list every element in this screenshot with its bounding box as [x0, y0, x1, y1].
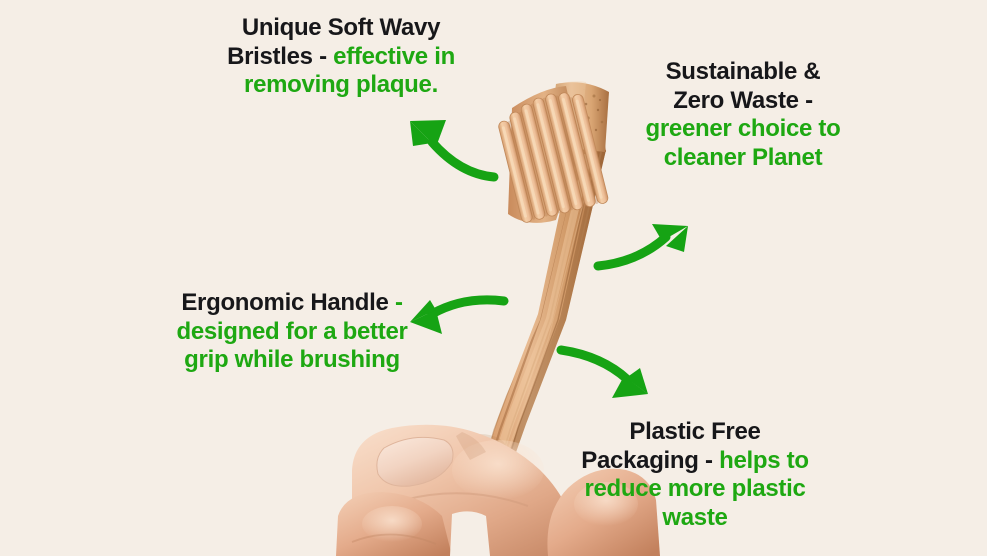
- callout-plastic-free-packaging: Plastic Free Packaging - helps to reduce…: [578, 418, 812, 532]
- callout-ergonomic-title: Ergonomic Handle: [181, 289, 388, 316]
- callout-unique-soft-wavy-bristles: Unique Soft Wavy Bristles - effective in…: [196, 14, 486, 100]
- finger-gap: [450, 511, 490, 556]
- callout-sustain-detail: greener choice to cleaner Planet: [646, 115, 841, 171]
- callout-packaging-dash: -: [699, 447, 719, 474]
- callout-sustain-title: Sustainable & Zero Waste: [666, 58, 821, 114]
- callout-sustainable-zero-waste: Sustainable & Zero Waste - greener choic…: [640, 58, 846, 172]
- callout-bristles-dash: -: [313, 43, 333, 70]
- infographic-canvas: Unique Soft Wavy Bristles - effective in…: [0, 0, 987, 556]
- callout-ergonomic-handle: Ergonomic Handle - designed for a better…: [172, 289, 412, 375]
- callout-sustain-dash: -: [799, 87, 813, 114]
